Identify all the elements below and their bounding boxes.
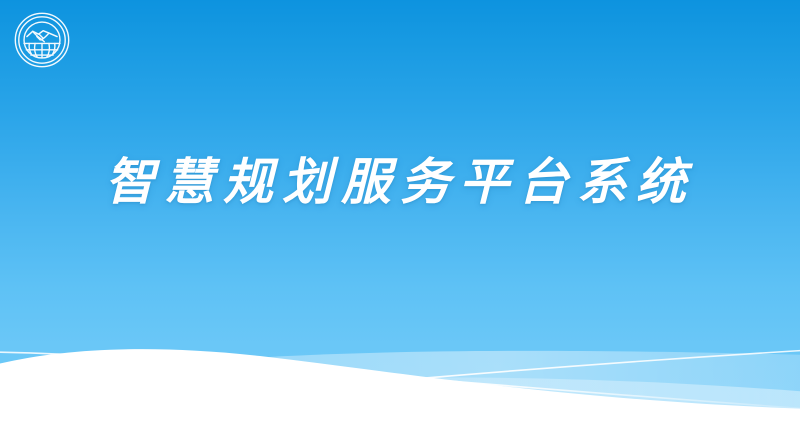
handshake-globe-emblem-icon	[13, 11, 71, 69]
page-title: 智慧规划服务平台系统	[105, 150, 695, 214]
splash-screen: 智慧规划服务平台系统	[0, 0, 800, 430]
bottom-wave-decoration	[0, 0, 800, 430]
title-block: 智慧规划服务平台系统	[0, 150, 800, 214]
